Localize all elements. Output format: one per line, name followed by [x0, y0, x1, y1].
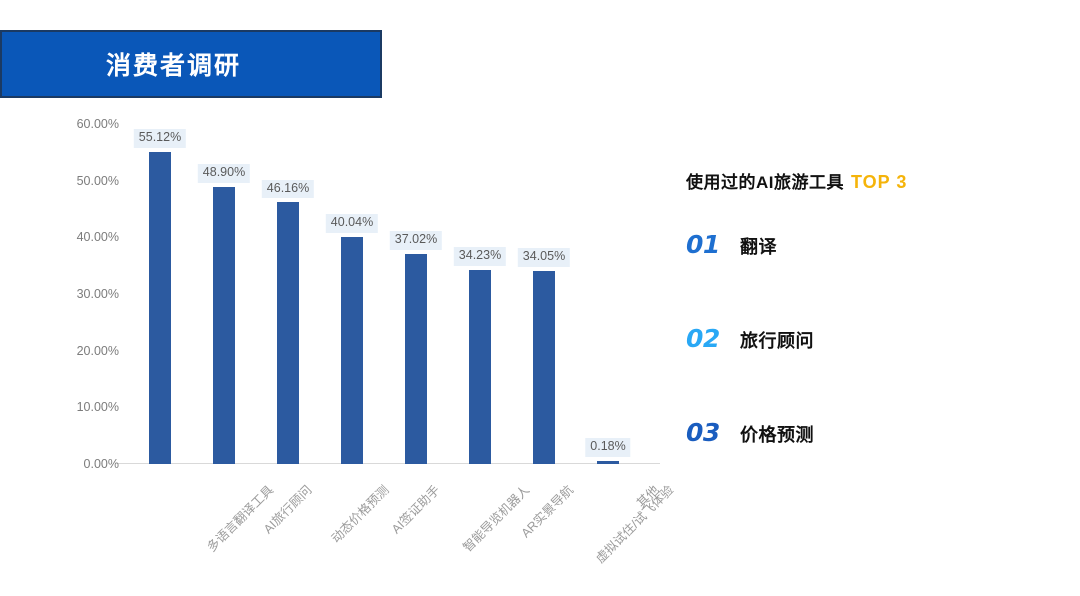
rank-label: 价格预测 — [740, 421, 814, 447]
slide-canvas: 消费者调研 60.00%50.00%40.00%30.00%20.00%10.0… — [0, 0, 1080, 596]
x-axis-category-label: AI签证助手 — [386, 480, 443, 537]
rank-number: 02 — [686, 324, 740, 353]
page-title: 消费者调研 — [106, 46, 241, 82]
y-axis-tick-label: 60.00% — [77, 117, 128, 131]
rank-label: 翻译 — [740, 233, 777, 259]
bar-value-label: 34.23% — [454, 247, 506, 266]
y-axis-tick-label: 30.00% — [77, 287, 128, 301]
bar — [597, 461, 619, 464]
bar-slot: 34.23% — [448, 124, 512, 464]
rank-row: 03价格预测 — [686, 418, 814, 447]
y-axis-tick-label: 50.00% — [77, 174, 128, 188]
y-axis-tick-label: 10.00% — [77, 400, 128, 414]
bar-slot: 55.12% — [128, 124, 192, 464]
bar — [533, 271, 555, 464]
panel-heading-accent: TOP 3 — [851, 172, 907, 192]
panel-heading-main: 使用过的AI旅游工具 — [686, 173, 844, 192]
bar — [405, 254, 427, 464]
title-banner: 消费者调研 — [0, 30, 382, 98]
bar-value-label: 37.02% — [390, 231, 442, 250]
bar-slot: 0.18% — [576, 124, 640, 464]
y-axis-tick-label: 0.00% — [84, 457, 128, 471]
bar-value-label: 0.18% — [585, 438, 630, 457]
rank-number: 03 — [686, 418, 740, 447]
bar-value-label: 34.05% — [518, 248, 570, 267]
rank-row: 01翻译 — [686, 230, 777, 259]
y-axis-tick-label: 40.00% — [77, 230, 128, 244]
bar — [469, 270, 491, 464]
bar — [213, 187, 235, 464]
y-axis-tick-label: 20.00% — [77, 344, 128, 358]
bar-value-label: 55.12% — [134, 129, 186, 148]
rank-label: 旅行顾问 — [740, 327, 814, 353]
bar-value-label: 40.04% — [326, 214, 378, 233]
bar-value-label: 46.16% — [262, 180, 314, 199]
bar — [149, 152, 171, 464]
bar-chart: 60.00%50.00%40.00%30.00%20.00%10.00%0.00… — [30, 112, 660, 552]
rank-row: 02旅行顾问 — [686, 324, 814, 353]
bar — [277, 202, 299, 464]
panel-heading: 使用过的AI旅游工具TOP 3 — [686, 168, 1046, 193]
bar-slot: 37.02% — [384, 124, 448, 464]
bar-value-label: 48.90% — [198, 164, 250, 183]
top-tools-panel: 使用过的AI旅游工具TOP 3 01翻译02旅行顾问03价格预测 — [686, 168, 1046, 193]
chart-plot-area: 60.00%50.00%40.00%30.00%20.00%10.00%0.00… — [128, 124, 660, 464]
rank-number: 01 — [686, 230, 740, 259]
bar — [341, 237, 363, 464]
x-axis-category-label: 智能导览机器人 — [458, 480, 533, 555]
bar-slot: 48.90% — [192, 124, 256, 464]
x-axis-category-label: 动态价格预测 — [326, 480, 392, 546]
bar-slot: 46.16% — [256, 124, 320, 464]
x-axis-category-label: 虚拟试住/试飞体验 — [590, 480, 677, 567]
bar-slot: 40.04% — [320, 124, 384, 464]
bar-slot: 34.05% — [512, 124, 576, 464]
